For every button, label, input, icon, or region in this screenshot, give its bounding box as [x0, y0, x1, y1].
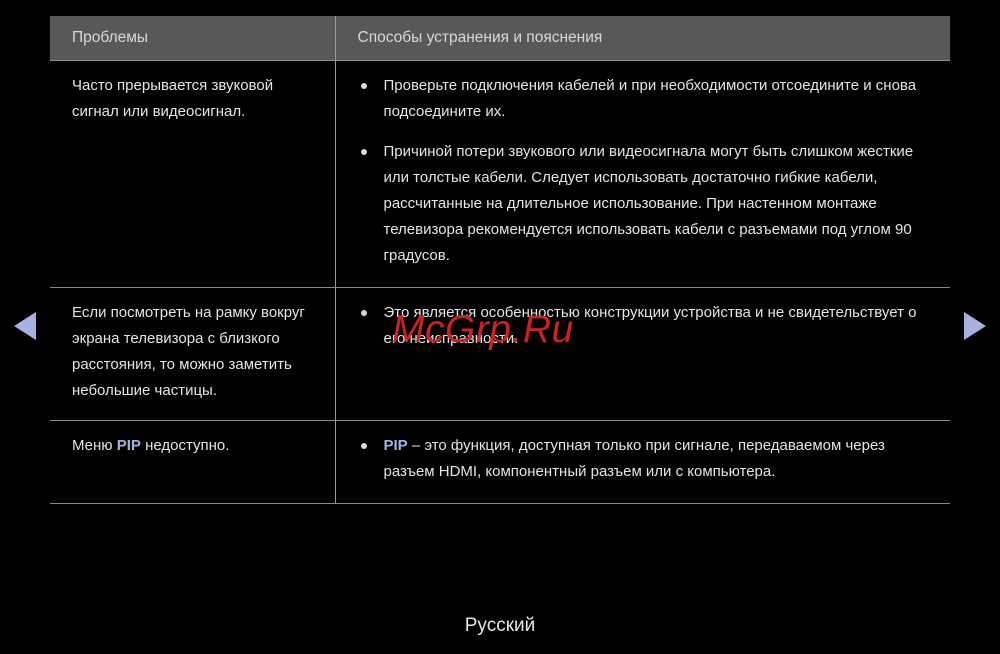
- text-fragment: Проверьте подключения кабелей и при необ…: [384, 77, 917, 120]
- text-fragment: Если посмотреть на рамку вокруг экрана т…: [72, 304, 305, 399]
- column-header-solution: Способы устранения и пояснения: [335, 16, 950, 61]
- solution-bullet-list: Проверьте подключения кабелей и при необ…: [358, 73, 931, 269]
- text-fragment: Это является особенностью конструкции ус…: [384, 304, 917, 347]
- keyword-term: PIP: [384, 437, 408, 454]
- solution-cell: Это является особенностью конструкции ус…: [335, 288, 950, 421]
- troubleshooting-table-container: Проблемы Способы устранения и пояснения …: [50, 16, 950, 504]
- solution-bullet-item: Причиной потери звукового или видеосигна…: [358, 139, 931, 269]
- solution-cell: Проверьте подключения кабелей и при необ…: [335, 61, 950, 288]
- text-fragment: Причиной потери звукового или видеосигна…: [384, 143, 914, 264]
- text-fragment: Меню: [72, 437, 117, 454]
- solution-bullet-list: Это является особенностью конструкции ус…: [358, 300, 931, 352]
- table-row: Меню PIP недоступно.PIP – это функция, д…: [50, 421, 950, 504]
- solution-bullet-item: Проверьте подключения кабелей и при необ…: [358, 73, 931, 125]
- text-fragment: Часто прерывается звуковой сигнал или ви…: [72, 77, 273, 120]
- problem-cell: Меню PIP недоступно.: [50, 421, 335, 504]
- table-body: Часто прерывается звуковой сигнал или ви…: [50, 61, 950, 504]
- troubleshooting-table: Проблемы Способы устранения и пояснения …: [50, 16, 950, 504]
- table-row: Если посмотреть на рамку вокруг экрана т…: [50, 288, 950, 421]
- bullet-dot-icon: [361, 310, 367, 316]
- solution-cell: PIP – это функция, доступная только при …: [335, 421, 950, 504]
- footer-language-label: Русский: [0, 615, 1000, 637]
- problem-cell: Если посмотреть на рамку вокруг экрана т…: [50, 288, 335, 421]
- table-row: Часто прерывается звуковой сигнал или ви…: [50, 61, 950, 288]
- text-fragment: – это функция, доступная только при сигн…: [384, 437, 885, 480]
- keyword-term: PIP: [117, 437, 141, 454]
- text-fragment: недоступно.: [141, 437, 230, 454]
- bullet-dot-icon: [361, 443, 367, 449]
- solution-bullet-list: PIP – это функция, доступная только при …: [358, 433, 931, 485]
- previous-page-arrow[interactable]: [14, 312, 36, 340]
- solution-bullet-item: PIP – это функция, доступная только при …: [358, 433, 931, 485]
- table-header-row: Проблемы Способы устранения и пояснения: [50, 16, 950, 61]
- problem-cell: Часто прерывается звуковой сигнал или ви…: [50, 61, 335, 288]
- table-header: Проблемы Способы устранения и пояснения: [50, 16, 950, 61]
- column-header-problem: Проблемы: [50, 16, 335, 61]
- bullet-dot-icon: [361, 149, 367, 155]
- next-page-arrow[interactable]: [964, 312, 986, 340]
- solution-bullet-item: Это является особенностью конструкции ус…: [358, 300, 931, 352]
- bullet-dot-icon: [361, 83, 367, 89]
